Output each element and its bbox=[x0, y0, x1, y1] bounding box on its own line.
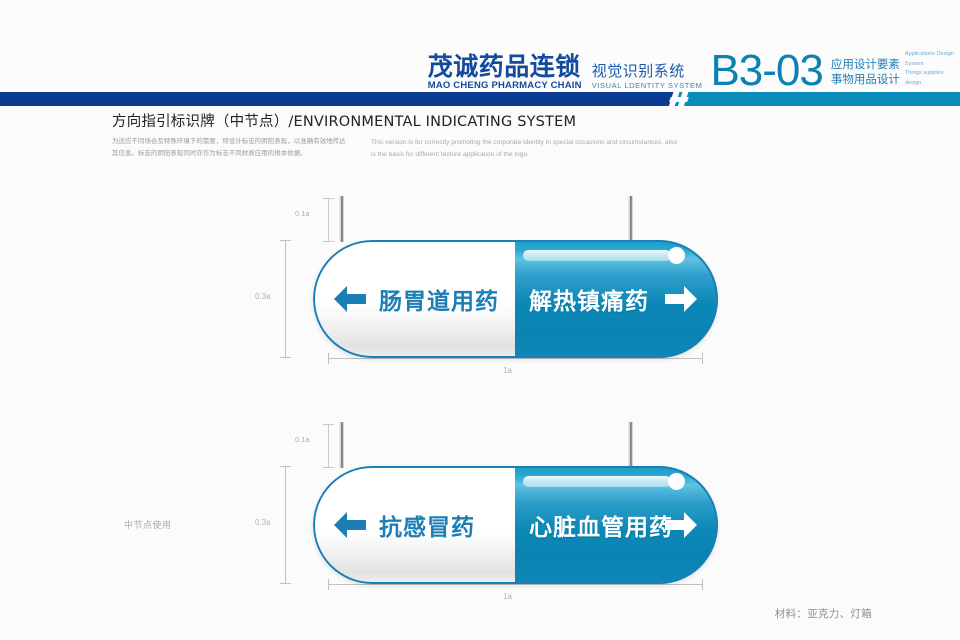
page-code: B3-03 bbox=[710, 52, 822, 90]
height-dimension-line bbox=[285, 466, 286, 584]
sign-label-right: 解热镇痛药 bbox=[529, 282, 649, 316]
width-dimension-line bbox=[328, 584, 703, 585]
company-name-cn: 茂诚药品连锁 bbox=[428, 54, 582, 79]
height-dimension-label: 0.3a bbox=[255, 292, 271, 301]
pole-dimension-label: 0.1a bbox=[295, 209, 310, 218]
company-name-en: MAO CHENG PHARMACY CHAIN bbox=[428, 81, 582, 91]
height-dimension-cap-top bbox=[280, 240, 291, 241]
arrow-right-icon bbox=[664, 510, 698, 540]
element-category-en-line3: Things supplies bbox=[905, 69, 954, 78]
sign-gloss-highlight bbox=[523, 476, 671, 487]
section-title: 方向指引标识牌（中节点）/ENVIRONMENTAL INDICATING SY… bbox=[112, 110, 576, 131]
arrow-left-icon bbox=[333, 284, 367, 314]
slash-cross-bar bbox=[669, 97, 688, 102]
hanging-pole-left-icon bbox=[339, 422, 344, 468]
sign-figure-1: 0.1a 0.3a 1a 肠胃道用药 解热镇痛药 bbox=[255, 196, 725, 396]
height-dimension-cap-top bbox=[280, 466, 291, 467]
height-dimension-line bbox=[285, 240, 286, 358]
width-dimension-label: 1a bbox=[503, 366, 512, 375]
header-bar-slash-divider bbox=[665, 89, 691, 110]
vi-system-label: 视觉识别系统 VISUAL LDENTITY SYSTEM bbox=[592, 64, 703, 90]
directional-sign-board: 抗感冒药 心脏血管用药 bbox=[313, 466, 718, 584]
usage-note: 中节点使用 bbox=[124, 518, 172, 531]
sign-label-left: 抗感冒药 bbox=[379, 508, 475, 542]
element-category-en-line4: design bbox=[905, 79, 954, 88]
arrow-right-icon bbox=[664, 284, 698, 314]
sign-label-left: 肠胃道用药 bbox=[379, 282, 499, 316]
sign-gloss-highlight bbox=[523, 250, 671, 261]
pole-dimension-label: 0.1a bbox=[295, 435, 310, 444]
description-en: This version is for correctly promoting … bbox=[371, 137, 681, 160]
header-bar-dark bbox=[0, 92, 676, 106]
sign-gloss-dot bbox=[668, 473, 685, 490]
pole-dimension-line bbox=[328, 424, 329, 468]
element-category-cn-line1: 应用设计要素 bbox=[831, 57, 900, 73]
pole-dimension-cap-top bbox=[323, 424, 334, 425]
element-category-en-line1: Applications Design bbox=[905, 50, 954, 59]
header-bar-light bbox=[676, 92, 960, 106]
height-dimension-cap-bottom bbox=[280, 357, 291, 358]
height-dimension-cap-bottom bbox=[280, 583, 291, 584]
sign-gloss-dot bbox=[668, 247, 685, 264]
arrow-left-icon bbox=[333, 510, 367, 540]
hanging-pole-right-icon bbox=[628, 422, 633, 468]
element-category-en: Applications Design System Things suppli… bbox=[905, 50, 954, 88]
description-cn: 为适应不同场合及特殊环境下的需要，特设计标志的阴阳表现，以准确有效地传达其信息。… bbox=[112, 136, 352, 160]
page-header: 茂诚药品连锁 MAO CHENG PHARMACY CHAIN 视觉识别系统 V… bbox=[0, 0, 960, 92]
element-category-en-line2: System bbox=[905, 60, 954, 69]
element-category-cn: 应用设计要素 事物用品设计 bbox=[831, 57, 905, 88]
directional-sign-board: 肠胃道用药 解热镇痛药 bbox=[313, 240, 718, 358]
material-note: 材料：亚克力、灯箱 bbox=[775, 606, 872, 621]
company-logo: 茂诚药品连锁 MAO CHENG PHARMACY CHAIN bbox=[428, 54, 582, 91]
pole-dimension-cap-top bbox=[323, 198, 334, 199]
element-category-cn-line2: 事物用品设计 bbox=[831, 72, 900, 88]
sign-figure-2: 0.1a 0.3a 1a 抗感冒药 心脏血管用药 bbox=[255, 422, 725, 622]
header-brand-block: 茂诚药品连锁 MAO CHENG PHARMACY CHAIN 视觉识别系统 V… bbox=[428, 44, 960, 90]
pole-dimension-line bbox=[328, 198, 329, 242]
hanging-pole-left-icon bbox=[339, 196, 344, 242]
sign-label-right: 心脏血管用药 bbox=[529, 508, 673, 542]
width-dimension-line bbox=[328, 358, 703, 359]
hanging-pole-right-icon bbox=[628, 196, 633, 242]
vi-system-en: VISUAL LDENTITY SYSTEM bbox=[592, 82, 703, 90]
vi-system-cn: 视觉识别系统 bbox=[592, 64, 703, 79]
element-category-block: 应用设计要素 事物用品设计 Applications Design System… bbox=[831, 50, 954, 88]
width-dimension-label: 1a bbox=[503, 592, 512, 601]
design-sheet-page: 茂诚药品连锁 MAO CHENG PHARMACY CHAIN 视觉识别系统 V… bbox=[0, 0, 960, 640]
height-dimension-label: 0.3a bbox=[255, 518, 271, 527]
